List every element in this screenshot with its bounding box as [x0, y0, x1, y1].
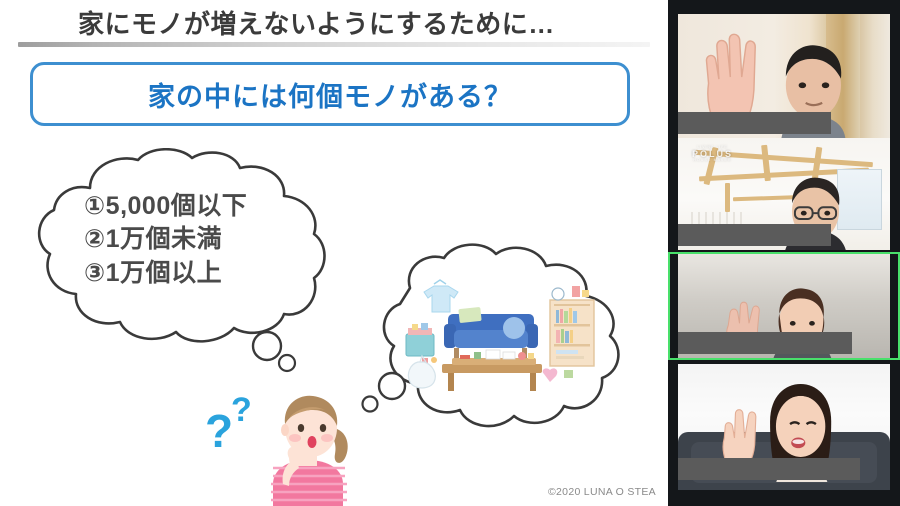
participant-tile-3[interactable] [668, 252, 900, 360]
participant-video-2: LIVING LIFEPOLUSHOUSE MAKER [678, 138, 890, 250]
question-text: 家の中には何個モノがある？ [148, 75, 512, 114]
svg-text:?: ? [231, 391, 252, 429]
participant-tile-2[interactable]: LIVING LIFEPOLUSHOUSE MAKER [668, 138, 900, 250]
polus-watermark: LIVING LIFEPOLUSHOUSE MAKER [692, 146, 733, 163]
bookshelf-icon [550, 286, 594, 366]
thought-bubble-tail-left [245, 330, 305, 380]
video-participant-panel: LIVING LIFEPOLUSHOUSE MAKER [668, 0, 900, 506]
question-box: 家の中には何個モノがある？ [30, 62, 630, 126]
scattered-toys-icon [543, 368, 573, 382]
options-list: ①5,000個以下 ②1万個未満 ③1万個以上 [84, 190, 247, 290]
participant-video-1 [678, 14, 890, 138]
page-title: 家にモノが増えないようにするために… [78, 4, 555, 41]
participant-tile-1[interactable] [668, 14, 900, 138]
thinking-woman-illustration [255, 388, 365, 506]
title-divider [18, 42, 650, 47]
hanging-shirt-icon [424, 280, 458, 312]
participant-video-3 [678, 254, 890, 358]
slide-screenshot: 家にモノが増えないようにするために… 家の中には何個モノがある？ ①5,000個… [0, 0, 900, 506]
option-1: ①5,000個以下 [84, 190, 247, 223]
participant-name-bar-3 [678, 332, 852, 354]
copyright-text: ©2020 LUNA O STEA [548, 486, 656, 498]
participant-tile-4[interactable] [668, 364, 900, 490]
presentation-slide: 家にモノが増えないようにするために… 家の中には何個モノがある？ ①5,000個… [0, 0, 668, 506]
option-2: ②1万個未満 [84, 223, 247, 256]
participant-name-bar-1 [678, 112, 831, 134]
participant-video-4 [678, 364, 890, 490]
svg-text:?: ? [205, 405, 233, 457]
participant-name-bar-2 [678, 224, 831, 246]
option-3: ③1万個以上 [84, 257, 247, 290]
room-illustration [404, 278, 604, 398]
participant-name-bar-4 [678, 458, 860, 480]
